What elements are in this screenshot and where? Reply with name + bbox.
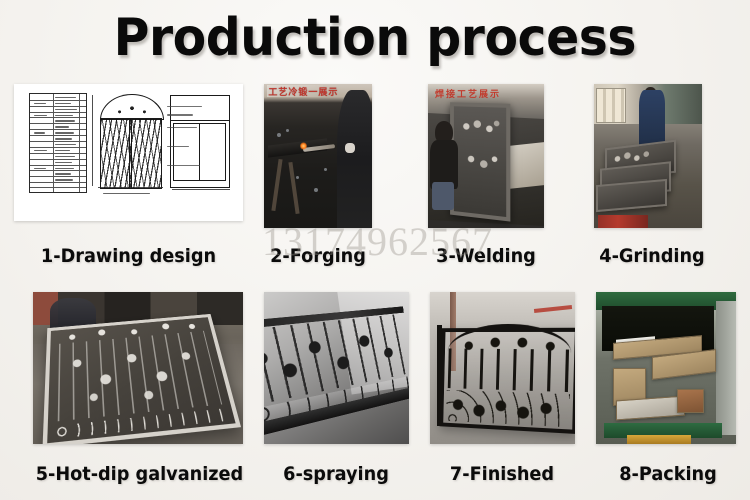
cad-door-arch (100, 94, 164, 120)
gate-panel-bottom (596, 179, 667, 212)
bench-leg-right (288, 162, 299, 214)
step-caption-spraying: 6-spraying (271, 463, 401, 485)
step-caption-forging: 2-Forging (262, 245, 374, 267)
cad-specification-table (29, 93, 87, 193)
stacked-cartons (509, 143, 544, 190)
step-caption-grinding: 4-Grinding (596, 245, 708, 267)
sprayed-gate (264, 296, 409, 444)
cad-door-leaf-left (100, 118, 132, 189)
step-caption-hot-dip-galvanized: 5-Hot-dip galvanized (36, 463, 241, 485)
packing-scene (596, 292, 736, 444)
step-image-hot-dip-galvanized (33, 292, 243, 444)
welding-overlay-text: 焊接工艺展示 (435, 87, 501, 100)
step-caption-packing: 8-Packing (603, 463, 733, 485)
cad-sheet (21, 91, 236, 197)
step-image-finished (430, 292, 575, 444)
scrollwork-upper (458, 112, 502, 142)
step-caption-drawing-design: 1-Drawing design (22, 245, 235, 267)
step-image-forging: 工艺冷锻一展示 (264, 84, 372, 228)
gate-hinge-post (437, 325, 442, 425)
step-image-grinding (594, 84, 702, 228)
container-side-wall (716, 301, 736, 435)
scrollwork-lower (459, 146, 501, 177)
finished-gate (440, 328, 575, 434)
red-floor-marking (598, 215, 648, 228)
step-image-packing (596, 292, 736, 444)
page-title: Production process (114, 12, 636, 64)
gate-lower-ornament (446, 391, 570, 428)
step-image-welding: 焊接工艺展示 (428, 84, 544, 228)
loading-ramp (627, 435, 691, 444)
spraying-scene (264, 292, 409, 444)
bench-leg-left (271, 159, 282, 211)
cad-door-leaf-right (129, 118, 161, 189)
galvanized-scene (33, 292, 243, 444)
welding-worker (430, 121, 458, 207)
poster-title-wrapper: Production process (0, 4, 750, 72)
step-image-drawing-design (14, 84, 243, 221)
forging-scene: 工艺冷锻一展示 (264, 84, 372, 228)
crate-flat-front (616, 396, 685, 421)
gate-panel-frame (450, 102, 511, 221)
gate-scrollwork (57, 331, 221, 421)
production-process-poster: Production process (0, 0, 750, 500)
step-image-spraying (264, 292, 409, 444)
forging-worker (337, 90, 372, 228)
cad-frame-section (170, 95, 230, 188)
finished-scene (430, 292, 575, 444)
welding-scene: 焊接工艺展示 (428, 84, 544, 228)
galvanized-gate-panel (42, 314, 241, 444)
cad-door-elevation (98, 94, 163, 187)
cad-drawing-scene (14, 84, 243, 221)
stacked-door-panels (596, 88, 626, 123)
step-caption-welding: 3-Welding (430, 245, 542, 267)
forging-overlay-text: 工艺冷锻一展示 (268, 85, 338, 98)
worker-pants (432, 182, 454, 210)
step-caption-finished: 7-Finished (437, 463, 567, 485)
grinding-scene (594, 84, 702, 228)
gate-vertical-bars (448, 349, 570, 393)
crate-small-brown (677, 389, 704, 412)
worker-glove (345, 143, 355, 153)
